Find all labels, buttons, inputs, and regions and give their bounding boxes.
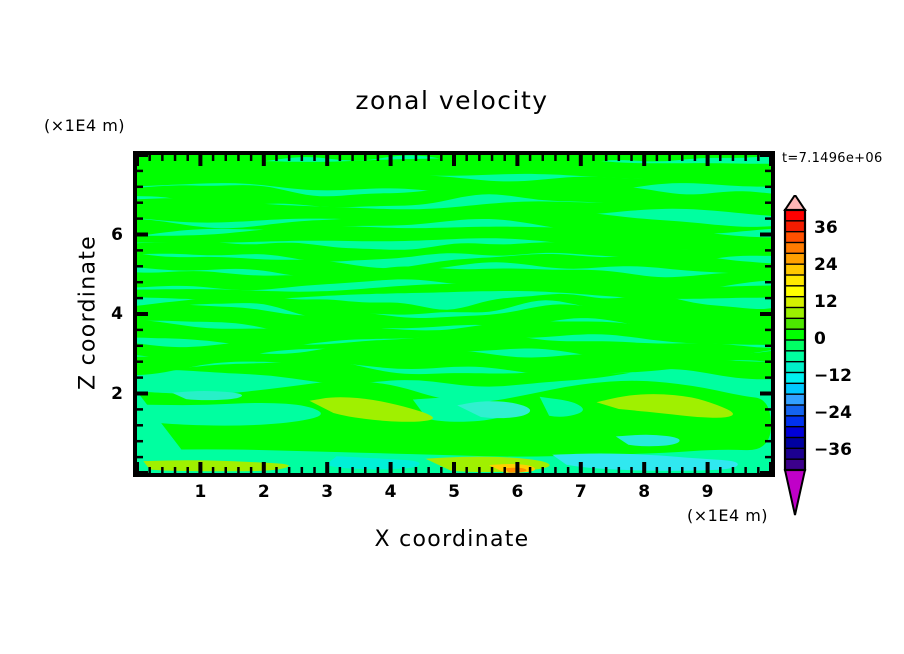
field-layers (137, 140, 771, 473)
y-tick-label: 2 (99, 384, 123, 404)
colorbar-tick-label: 36 (814, 218, 838, 238)
x-tick-label: 2 (249, 482, 279, 502)
colorbar-tick-label: −12 (814, 366, 852, 386)
x-tick-label: 1 (185, 482, 215, 502)
colorbar-bands (785, 195, 805, 515)
contour-plot-figure: zonal velocity (×1E4 m) (×1E4 m) t=7.149… (0, 0, 904, 654)
x-tick-label: 8 (629, 482, 659, 502)
contour-field (0, 0, 904, 654)
y-tick-label: 6 (99, 225, 123, 245)
x-tick-label: 7 (566, 482, 596, 502)
x-tick-label: 9 (693, 482, 723, 502)
colorbar (778, 195, 838, 525)
colorbar-tick-label: 24 (814, 255, 838, 275)
x-tick-label: 3 (312, 482, 342, 502)
colorbar-tick-label: 0 (814, 329, 826, 349)
x-tick-label: 5 (439, 482, 469, 502)
colorbar-tick-label: 12 (814, 292, 838, 312)
x-tick-label: 6 (502, 482, 532, 502)
x-tick-label: 4 (376, 482, 406, 502)
colorbar-tick-label: −36 (814, 440, 852, 460)
colorbar-tick-label: −24 (814, 403, 852, 423)
y-tick-label: 4 (99, 304, 123, 324)
